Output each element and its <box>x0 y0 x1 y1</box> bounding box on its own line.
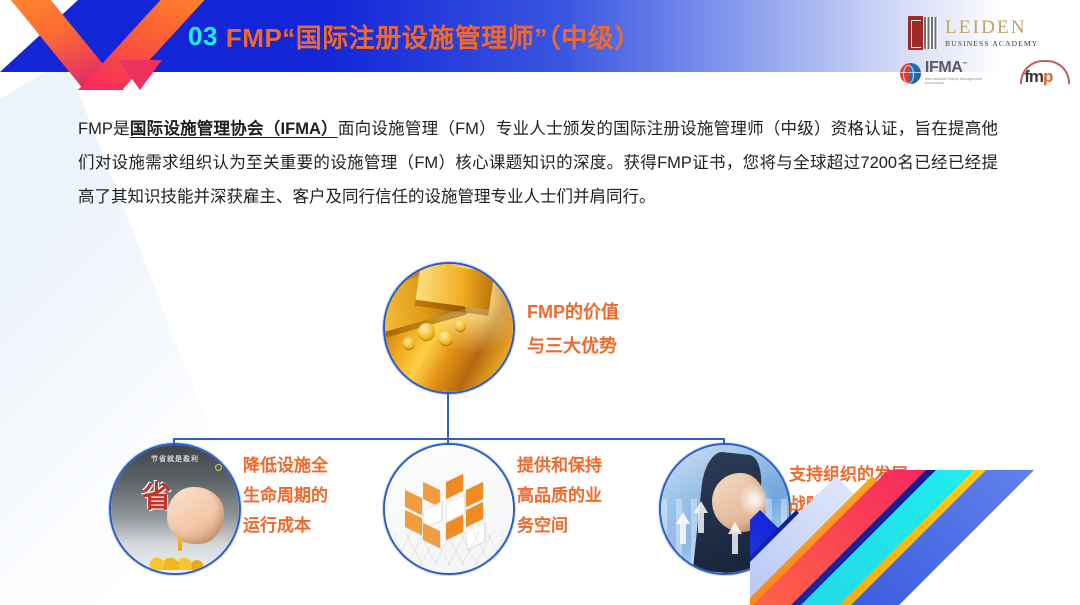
section-number: 03 <box>188 21 218 52</box>
save-character: 省 <box>142 483 193 534</box>
node-branch-2-image <box>383 443 515 575</box>
ifma-tagline: International Facility Management Associ… <box>925 78 1002 85</box>
ifma-name-text: IFMA <box>925 59 963 76</box>
fmp-fm-text: fm <box>1024 67 1043 86</box>
coin-shape <box>403 337 415 349</box>
page-title-text: FMP“国际注册设施管理师”（中级） <box>226 18 641 55</box>
cube-floor-grid <box>395 532 503 565</box>
up-arrow-icon <box>694 501 708 513</box>
connector-horizontal-bar <box>173 438 725 440</box>
accreditation-badges: IFMA™ International Facility Management … <box>900 60 1066 86</box>
coin-shape <box>439 331 453 345</box>
ifma-trademark: ™ <box>962 62 967 68</box>
orange-icon-cube-icon <box>385 445 513 573</box>
coin-drip-shape <box>178 537 182 551</box>
body-paragraph: FMP是国际设施管理协会（IFMA）面向设施管理（FM）专业人士颁发的国际注册设… <box>78 112 998 214</box>
paragraph-part-1: FMP是 <box>78 120 130 138</box>
node-root-label: FMP的价值 与三大优势 <box>527 295 727 363</box>
logo-group: LEIDEN BUSINESS ACADEMY IFMA™ Internatio… <box>886 8 1066 102</box>
book-pages-shape <box>924 17 938 49</box>
node-branch-1-label: 降低设施全 生命周期的 运行成本 <box>243 451 403 541</box>
fmp-p-text: p <box>1043 67 1052 86</box>
node-branch-2-label: 提供和保持 高品质的业 务空间 <box>517 451 677 541</box>
gold-bars-and-coins-icon <box>385 264 513 392</box>
fmp-wordmark: fmp <box>1024 67 1052 87</box>
decorative-ribbons <box>750 470 1080 605</box>
up-arrow-icon <box>728 522 742 534</box>
coin-shape <box>418 323 435 340</box>
node-root-image <box>383 262 515 394</box>
hand-squeezing-savings-icon: 节省就是盈利 省 <box>111 445 239 573</box>
image-caption: 节省就是盈利 <box>129 454 221 469</box>
coin-pile-shape <box>149 553 205 571</box>
globe-icon <box>900 63 921 84</box>
page-title: 03 FMP“国际注册设施管理师”（中级） <box>188 0 641 72</box>
slide-root: 03 FMP“国际注册设施管理师”（中级） LEIDEN BUSINESS AC… <box>0 0 1080 605</box>
leiden-name: LEIDEN <box>945 18 1038 37</box>
leiden-subtitle: BUSINESS ACADEMY <box>945 40 1038 48</box>
fmp-logo: fmp <box>1020 60 1066 86</box>
up-arrow-icon <box>676 512 690 524</box>
paragraph-bold-org: 国际设施管理协会（IFMA） <box>130 120 338 138</box>
coin-shape <box>455 320 466 331</box>
ifma-wordmark: IFMA™ International Facility Management … <box>925 60 1002 85</box>
leiden-book-icon <box>908 16 938 50</box>
leiden-logo: LEIDEN BUSINESS ACADEMY <box>908 16 1038 50</box>
decorative-dot-icon <box>215 464 222 471</box>
ifma-logo: IFMA™ International Facility Management … <box>900 60 1002 85</box>
leiden-wordmark: LEIDEN BUSINESS ACADEMY <box>945 18 1038 48</box>
book-cover-shape <box>908 16 923 50</box>
node-branch-1-image: 节省就是盈利 省 <box>109 443 241 575</box>
ifma-name: IFMA™ <box>925 60 1002 76</box>
